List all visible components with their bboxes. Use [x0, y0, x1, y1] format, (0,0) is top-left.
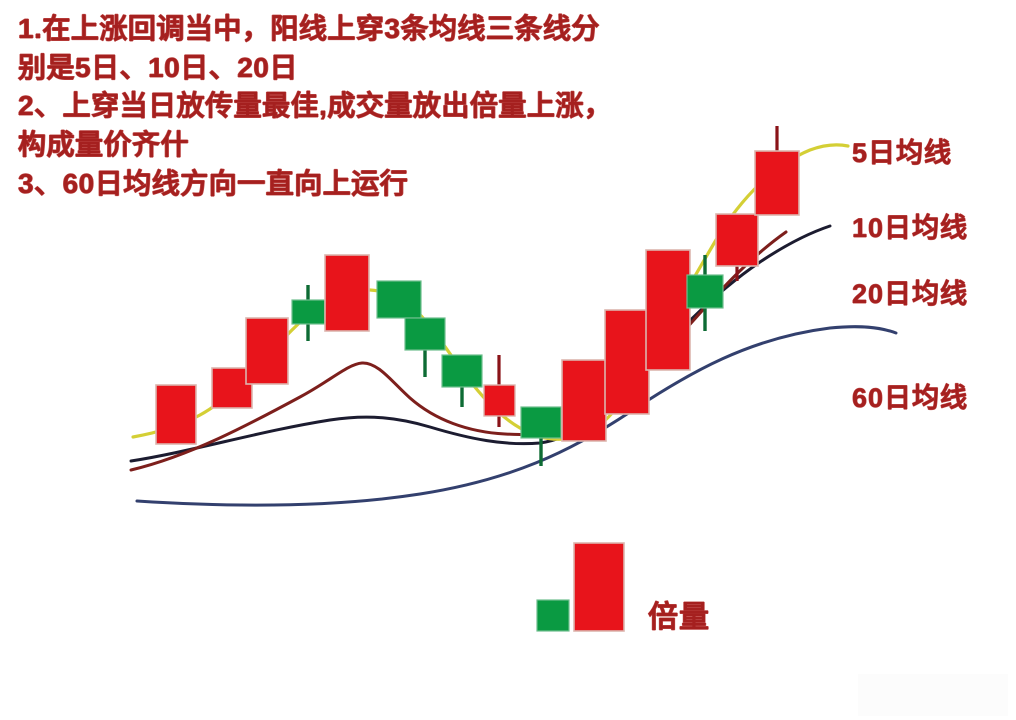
legend-label-ma10: 10日均线: [852, 206, 968, 245]
candle-4: [292, 285, 325, 341]
volume-bar-double: [574, 543, 624, 631]
volume-callout-label: 倍量: [648, 592, 710, 636]
candle-9: [484, 355, 515, 427]
candle-12: [605, 310, 649, 414]
candle-10: [521, 407, 561, 466]
annotation-line-5: 3、60日均线方向一直向上运行: [18, 165, 718, 204]
candle-8: [442, 355, 482, 407]
legend-label-ma5: 5日均线: [852, 131, 952, 170]
candle-1: [156, 385, 196, 444]
annotation-line-4: 构成量价齐什: [18, 126, 718, 165]
legend-label-ma60: 60日均线: [852, 376, 968, 415]
candle-13: [646, 250, 690, 370]
candle-7: [405, 318, 445, 377]
candle-3: [246, 318, 288, 384]
candle-11-breakout: [562, 360, 606, 441]
volume-bar-group: [537, 543, 624, 631]
candle-6: [377, 281, 421, 318]
annotation-line-1: 1.在上涨回调当中，阳线上穿3条均线三条线分: [18, 10, 718, 49]
chart-canvas: 1.在上涨回调当中，阳线上穿3条均线三条线分 别是5日、10日、20日 2、上穿…: [0, 0, 1016, 720]
annotation-line-3: 2、上穿当日放传量最佳,成交量放出倍量上涨，: [18, 87, 718, 126]
candle-16: [755, 126, 799, 215]
volume-bar-normal: [537, 600, 569, 631]
candle-5: [325, 255, 369, 331]
annotation-text-block: 1.在上涨回调当中，阳线上穿3条均线三条线分 别是5日、10日、20日 2、上穿…: [18, 10, 718, 203]
annotation-line-2: 别是5日、10日、20日: [18, 49, 718, 88]
legend-label-ma20: 20日均线: [852, 272, 968, 311]
candle-15: [716, 214, 758, 281]
